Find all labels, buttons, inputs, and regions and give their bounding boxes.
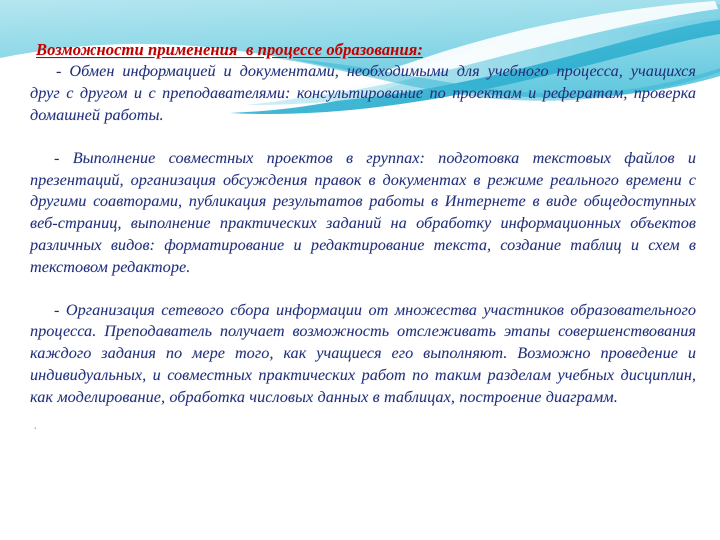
body-paragraph-1: - Обмен информацией и документами, необх… (30, 61, 696, 126)
body-paragraph-3: - Организация сетевого сбора информации … (30, 300, 696, 409)
slide-content: Возможности применения в процессе образо… (0, 0, 720, 540)
body-paragraph-2: - Выполнение совместных проектов в групп… (30, 148, 696, 279)
page-title: Возможности применения в процессе образо… (36, 40, 696, 59)
presentation-slide: Возможности применения в процессе образо… (0, 0, 720, 540)
trailing-period-mark: . (34, 418, 696, 431)
